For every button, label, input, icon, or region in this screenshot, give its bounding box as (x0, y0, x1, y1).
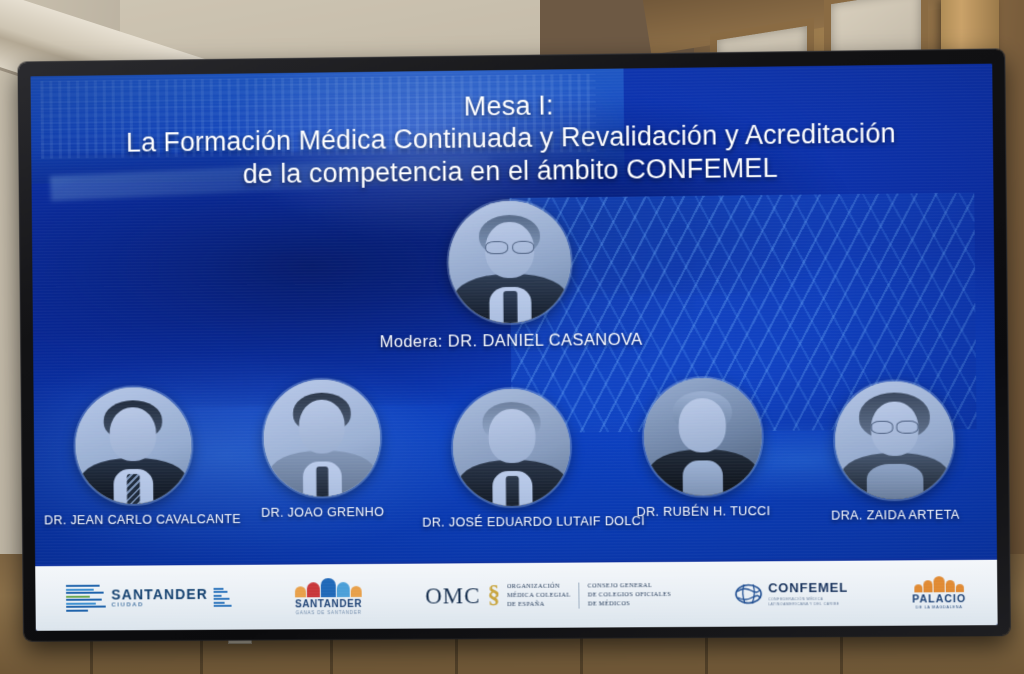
panelist-1: DR. JEAN CARLO CAVALCANTE (43, 387, 223, 528)
santander-ciudad-name: SANTANDER (111, 587, 208, 602)
panelist-5-name: DRA. ZAIDA ARTETA (804, 508, 987, 523)
panelist-2: DR. JOAO GRENHO (231, 379, 412, 520)
santander-ciudad-bars-icon (66, 585, 106, 612)
santander-arch-name: SANTANDER (295, 599, 362, 610)
panelist-row: DR. JEAN CARLO CAVALCANTE (33, 378, 996, 526)
panelist-2-name: DR. JOAO GRENHO (233, 505, 413, 520)
omc-rod-symbol-icon: § (487, 582, 500, 610)
logo-santander-arch: SANTANDER GANAS DE SANTANDER (295, 578, 362, 615)
panelist-portrait-2 (263, 380, 381, 498)
panelist-1-name: DR. JEAN CARLO CAVALCANTE (44, 513, 223, 528)
presentation-slide: Mesa I: La Formación Médica Continuada y… (31, 64, 998, 631)
tv-screen: Mesa I: La Formación Médica Continuada y… (31, 64, 998, 631)
panelist-portrait-5 (835, 381, 954, 500)
sponsor-logo-bar: SANTANDER CIUDAD (35, 560, 997, 631)
santander-arch-subtitle: GANAS DE SANTANDER (296, 610, 362, 615)
omc-block-1: ORGANIZACIÓN MÉDICA COLEGIAL DE ESPAÑA (507, 582, 571, 610)
logo-santander-ciudad: SANTANDER CIUDAD (66, 584, 232, 611)
moderator-block: Modera: DR. DANIEL CASANOVA (378, 200, 642, 353)
panelist-portrait-3 (453, 389, 571, 507)
santander-arches-icon (295, 578, 362, 597)
panelist-4: DR. RUBÉN H. TUCCI (611, 378, 794, 520)
omc-block-2: CONSEJO GENERAL DE COLEGIOS OFICIALES DE… (588, 581, 672, 609)
palacio-building-icon (914, 576, 964, 592)
panelist-portrait-4 (643, 378, 762, 496)
logo-confemel: CONFEMEL CONFEDERACIÓN MÉDICA LATINOAMER… (735, 580, 848, 609)
panelist-3: DR. JOSÉ EDUARDO LUTAIF DOLCI (421, 389, 603, 530)
palacio-subtitle: DE LA MAGDALENA (916, 605, 963, 609)
slide-title: Mesa I: La Formación Médica Continuada y… (31, 83, 994, 194)
omc-divider (579, 582, 580, 608)
moderator-portrait (449, 200, 572, 323)
confemel-globe-icon (735, 581, 762, 608)
confemel-subtitle: CONFEDERACIÓN MÉDICA LATINOAMERICANA Y D… (768, 597, 848, 608)
panelist-portrait-1 (75, 387, 192, 504)
santander-ciudad-subtitle: CIUDAD (111, 602, 208, 609)
santander-ciudad-tail-icon (214, 588, 232, 608)
tv-bezel: Mesa I: La Formación Médica Continuada y… (19, 49, 1010, 640)
logo-omc: OMC § ORGANIZACIÓN MÉDICA COLEGIAL DE ES… (425, 581, 671, 611)
confemel-name: CONFEMEL (768, 580, 848, 596)
panelist-4-name: DR. RUBÉN H. TUCCI (613, 504, 795, 519)
room-photo: Mesa I: La Formación Médica Continuada y… (0, 0, 1024, 674)
logo-palacio-magdalena: PALACIO DE LA MAGDALENA (912, 576, 966, 610)
television: Mesa I: La Formación Médica Continuada y… (19, 49, 1010, 640)
panelist-5: DRA. ZAIDA ARTETA (803, 381, 987, 523)
moderator-name: Modera: DR. DANIEL CASANOVA (380, 331, 643, 353)
panelist-3-name: DR. JOSÉ EDUARDO LUTAIF DOLCI (422, 515, 603, 530)
omc-acronym: OMC (425, 583, 481, 609)
palacio-name: PALACIO (912, 593, 966, 605)
